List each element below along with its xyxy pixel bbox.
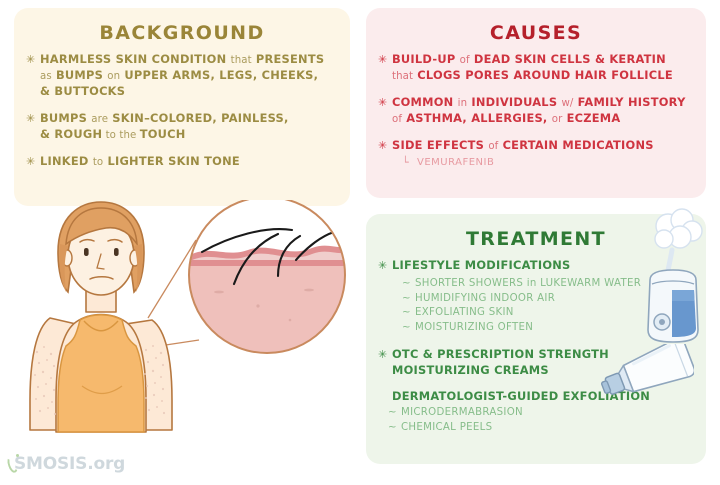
bullet-line: that CLOGS PORES AROUND HAIR FOLLICLE [392, 68, 692, 84]
tilde-bullet-icon: ~ [402, 321, 411, 336]
tilde-bullet-icon: ~ [402, 277, 411, 292]
text-run: LIGHTER SKIN TONE [103, 154, 240, 168]
bullet-star-icon: ✳ [378, 138, 387, 153]
tilde-bullet-icon: ~ [402, 292, 411, 307]
text-run: & [40, 127, 54, 141]
tilde-bullet-icon: ~ [388, 421, 397, 436]
text-run: ROUGH [54, 127, 102, 141]
text-run: ECZEMA [562, 111, 620, 125]
background-bullet-list: ✳HARMLESS SKIN CONDITION that PRESENTSas… [14, 44, 350, 170]
text-run: DEAD SKIN CELLS & KERATIN [470, 52, 666, 66]
causes-bullet-list: ✳BUILD-UP of DEAD SKIN CELLS & KERATINth… [366, 44, 706, 170]
text-run: SIDE EFFECTS [392, 138, 488, 152]
humidifier-icon [634, 206, 712, 346]
background-panel: BACKGROUND ✳HARMLESS SKIN CONDITION that… [14, 8, 350, 206]
bullet-line: COMMON in INDIVIDUALS w/ FAMILY HISTORY [392, 95, 692, 111]
text-run: UPPER ARMS, LEGS, CHEEKS, [120, 68, 318, 82]
bullet-star-icon: ✳ [378, 258, 387, 273]
bullet-item: ✳LINKED to LIGHTER SKIN TONE [26, 154, 336, 170]
text-run: of [488, 141, 498, 152]
bullet-line: & BUTTOCKS [40, 84, 336, 100]
figure-head [58, 202, 144, 295]
logo-wordmark: SMOSIS.org [14, 454, 125, 474]
cream-tube-icon [598, 344, 694, 404]
bullet-line: & ROUGH to the TOUCH [40, 127, 336, 143]
text-run: PRESENTS [252, 52, 325, 66]
text-run: BUILD-UP [392, 52, 460, 66]
bullet-line: SIDE EFFECTS of CERTAIN MEDICATIONS [392, 138, 692, 154]
bullet-line: BUILD-UP of DEAD SKIN CELLS & KERATIN [392, 52, 692, 68]
text-run: CLOGS PORES AROUND HAIR FOLLICLE [413, 68, 673, 82]
bullet-item: ✳BUILD-UP of DEAD SKIN CELLS & KERATINth… [378, 52, 692, 84]
text-run: TOUCH [140, 127, 186, 141]
bullet-line: HARMLESS SKIN CONDITION that PRESENTS [40, 52, 336, 68]
text-run: INDIVIDUALS [467, 95, 561, 109]
sub-bullet-item: ~MICRODERMABRASION [388, 406, 692, 421]
bullet-star-icon: ✳ [26, 111, 35, 126]
bullet-subitem: └VEMURAFENIB [402, 156, 692, 170]
text-run: CERTAIN MEDICATIONS [498, 138, 653, 152]
text-run: & BUTTOCKS [40, 84, 125, 98]
bullet-star-icon: ✳ [378, 347, 387, 362]
text-run: that [231, 55, 252, 66]
bullet-line: as BUMPS on UPPER ARMS, LEGS, CHEEKS, [40, 68, 336, 84]
bullet-item: ✳SIDE EFFECTS of CERTAIN MEDICATIONS└VEM… [378, 138, 692, 170]
text-run: HARMLESS SKIN CONDITION [40, 52, 231, 66]
bullet-line: BUMPS are SKIN–COLORED, PAINLESS, [40, 111, 336, 127]
text-run: to the [102, 130, 139, 141]
bullet-item: ✳HARMLESS SKIN CONDITION that PRESENTSas… [26, 52, 336, 100]
infographic-poster: BACKGROUND ✳HARMLESS SKIN CONDITION that… [0, 0, 720, 485]
text-run: are [91, 114, 108, 125]
bullet-item: ✳COMMON in INDIVIDUALS w/ FAMILY HISTORY… [378, 95, 692, 127]
osmosis-logo[interactable]: SMOSIS.org [8, 452, 125, 476]
bullet-star-icon: ✳ [26, 52, 35, 67]
humidifier-body [648, 270, 698, 342]
text-run: SKIN–COLORED, PAINLESS, [108, 111, 289, 125]
text-run: or [552, 114, 563, 125]
causes-panel-heading: CAUSES [366, 8, 706, 44]
text-run: BUMPS [40, 111, 91, 125]
bullet-star-icon: ✳ [26, 154, 35, 169]
bullet-line: LINKED to LIGHTER SKIN TONE [40, 154, 336, 170]
keratosis-pilaris-illustration [20, 200, 360, 470]
bullet-line: of ASTHMA, ALLERGIES, or ECZEMA [392, 111, 692, 127]
steam-cloud [655, 209, 702, 248]
text-run: LINKED [40, 154, 93, 168]
skin-magnifier-inset [188, 200, 346, 355]
text-run: COMMON [392, 95, 458, 109]
text-run: of [460, 55, 470, 66]
elbow-connector-icon: └ [402, 155, 409, 170]
text-run: as [40, 71, 52, 82]
logo-dot-icon [16, 454, 19, 457]
text-run: that [392, 71, 413, 82]
text-run: on [107, 71, 120, 82]
bullet-item: ✳BUMPS are SKIN–COLORED, PAINLESS,& ROUG… [26, 111, 336, 143]
sub-bullet-list: ~MICRODERMABRASION~CHEMICAL PEELS [388, 406, 692, 436]
tilde-bullet-icon: ~ [388, 406, 397, 421]
text-run: in [458, 98, 468, 109]
text-run: FAMILY HISTORY [573, 95, 685, 109]
text-run: BUMPS [52, 68, 108, 82]
tilde-bullet-icon: ~ [402, 306, 411, 321]
causes-panel: CAUSES ✳BUILD-UP of DEAD SKIN CELLS & KE… [366, 8, 706, 198]
sub-bullet-item: ~CHEMICAL PEELS [388, 421, 692, 436]
background-panel-heading: BACKGROUND [14, 8, 350, 44]
text-run: w/ [562, 98, 574, 109]
bullet-star-icon: ✳ [378, 95, 387, 110]
text-run: to [93, 157, 103, 168]
text-run: ASTHMA, ALLERGIES, [402, 111, 552, 125]
bullet-star-icon: ✳ [378, 52, 387, 67]
text-run: of [392, 114, 402, 125]
